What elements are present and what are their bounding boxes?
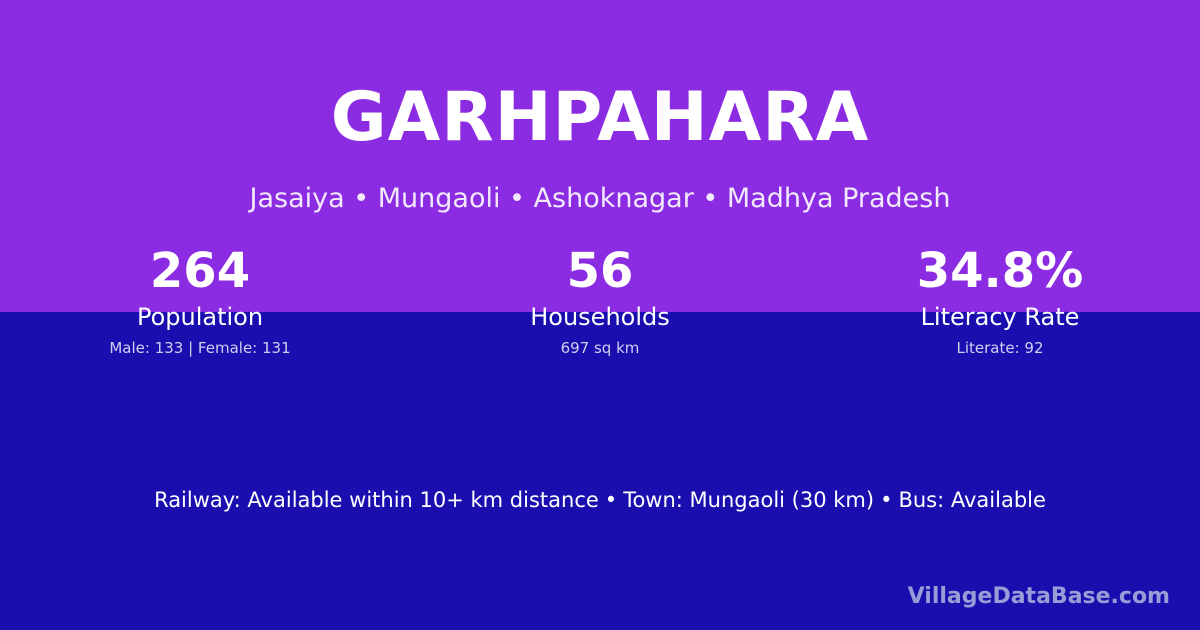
stat-sublabel: Male: 133 | Female: 131 xyxy=(0,338,400,358)
stat-population: 264 Population Male: 133 | Female: 131 xyxy=(0,243,400,358)
stat-literacy-rate: 34.8% Literacy Rate Literate: 92 xyxy=(800,243,1200,358)
stat-label: Population xyxy=(0,302,400,332)
stat-households: 56 Households 697 sq km xyxy=(400,243,800,358)
stat-sublabel: 697 sq km xyxy=(400,338,800,358)
stat-label: Literacy Rate xyxy=(800,302,1200,332)
page-title: GARHPAHARA xyxy=(0,82,1200,154)
facility-bus: Bus: Available xyxy=(898,488,1045,512)
stats-row: 264 Population Male: 133 | Female: 131 5… xyxy=(0,243,1200,358)
location-breadcrumb: Jasaiya • Mungaoli • Ashoknagar • Madhya… xyxy=(0,181,1200,217)
facility-town: Town: Mungaoli (30 km) xyxy=(623,488,874,512)
facility-separator: • xyxy=(874,488,898,512)
village-info-card: GARHPAHARA Jasaiya • Mungaoli • Ashoknag… xyxy=(0,0,1200,630)
facility-railway: Railway: Available within 10+ km distanc… xyxy=(154,488,599,512)
stat-label: Households xyxy=(400,302,800,332)
stat-value: 56 xyxy=(400,243,800,299)
facilities-line: Railway: Available within 10+ km distanc… xyxy=(0,484,1200,516)
stat-value: 264 xyxy=(0,243,400,299)
stat-value: 34.8% xyxy=(800,243,1200,299)
facility-separator: • xyxy=(599,488,623,512)
stat-sublabel: Literate: 92 xyxy=(800,338,1200,358)
site-brand: VillageDataBase.com xyxy=(908,583,1170,611)
